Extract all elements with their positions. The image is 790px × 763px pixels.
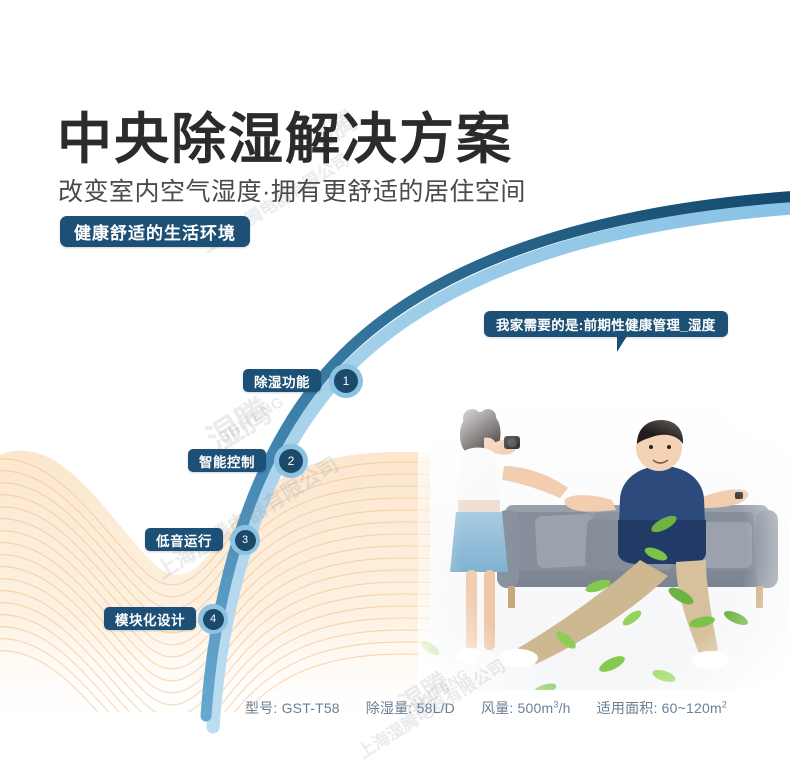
spec-value-airflow: 500m bbox=[518, 700, 554, 716]
speech-bubble: 我家需要的是:前期性健康管理_湿度 bbox=[484, 311, 728, 337]
feature-number-1: 1 bbox=[334, 369, 358, 393]
spec-value-capacity: 58L/D bbox=[417, 700, 455, 716]
speech-bubble-tail bbox=[617, 336, 640, 352]
spec-name-model: 型号 bbox=[245, 700, 273, 716]
spec-item-capacity: 除湿量: 58L/D bbox=[366, 698, 455, 718]
spec-name-area: 适用面积 bbox=[597, 700, 654, 716]
hero-badge: 健康舒适的生活环境 bbox=[60, 216, 250, 247]
spec-sup-area: 2 bbox=[722, 699, 727, 709]
feature-marker-3[interactable]: 3 bbox=[230, 525, 260, 555]
feature-number-4: 4 bbox=[203, 609, 224, 630]
spec-item-airflow: 风量: 500m3/h bbox=[481, 698, 571, 718]
feature-marker-1[interactable]: 1 bbox=[329, 364, 363, 398]
spec-item-model: 型号: GST-T58 bbox=[245, 698, 340, 718]
page-subtitle: 改变室内空气湿度·拥有更舒适的居住空间 bbox=[58, 176, 526, 208]
spec-item-area: 适用面积: 60~120m2 bbox=[597, 698, 727, 718]
spec-unit-airflow: /h bbox=[559, 700, 571, 716]
spec-name-capacity: 除湿量 bbox=[366, 700, 409, 716]
feature-label-1[interactable]: 除湿功能 bbox=[243, 369, 321, 392]
feature-label-4[interactable]: 模块化设计 bbox=[104, 607, 196, 630]
feature-number-3: 3 bbox=[235, 530, 256, 551]
feature-marker-4[interactable]: 4 bbox=[198, 604, 228, 634]
promo-banner: 湿腾 上海湿腾电器有限公司 湿腾 SHITENG 上海湿腾电器有限公司 湿腾 S… bbox=[0, 0, 790, 763]
feature-marker-2[interactable]: 2 bbox=[274, 444, 308, 478]
spec-value-model: GST-T58 bbox=[282, 700, 340, 716]
feature-number-2: 2 bbox=[279, 449, 303, 473]
spec-name-airflow: 风量 bbox=[481, 700, 509, 716]
watermark-brand-en: SHITENG bbox=[216, 393, 287, 446]
spec-row: 型号: GST-T58 除湿量: 58L/D 风量: 500m3/h 适用面积:… bbox=[245, 698, 727, 718]
spec-value-area: 60~120m bbox=[662, 700, 722, 716]
feature-label-2[interactable]: 智能控制 bbox=[188, 449, 266, 472]
feature-label-3[interactable]: 低音运行 bbox=[145, 528, 223, 551]
page-title: 中央除湿解决方案 bbox=[57, 108, 513, 170]
